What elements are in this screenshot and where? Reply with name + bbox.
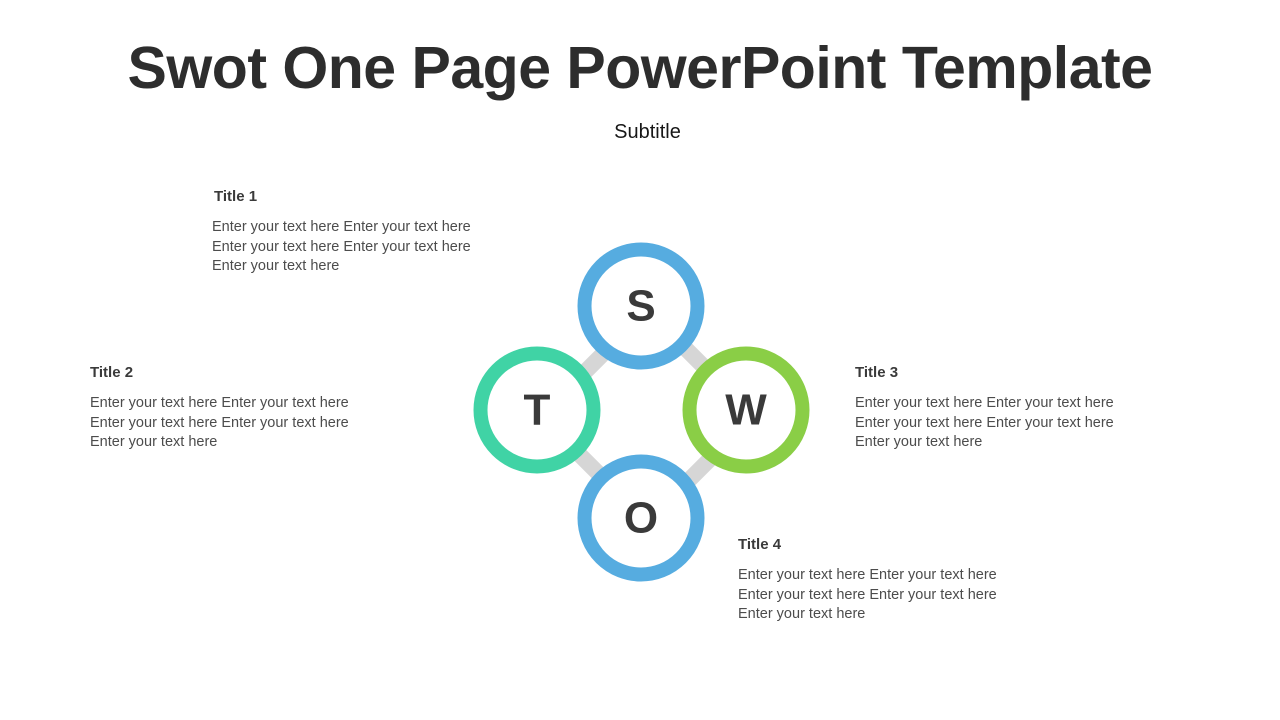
page-subtitle: Subtitle	[0, 120, 1280, 144]
swot-diagram: S W O T	[453, 222, 829, 598]
text-block-heading: Title 3	[855, 364, 1185, 382]
ring-letter-strengths: S	[626, 282, 655, 331]
text-block-body: Enter your text here Enter your text her…	[90, 394, 420, 453]
text-block-title-3: Title 3 Enter your text here Enter your …	[855, 364, 1185, 453]
text-block-title-2: Title 2 Enter your text here Enter your …	[90, 364, 420, 453]
text-block-body: Enter your text here Enter your text her…	[855, 394, 1185, 453]
ring-letter-threats: T	[524, 386, 551, 435]
page-title: Swot One Page PowerPoint Template	[0, 38, 1280, 100]
text-block-heading: Title 1	[214, 188, 542, 206]
slide-canvas: Swot One Page PowerPoint Template Subtit…	[0, 0, 1280, 720]
text-block-heading: Title 2	[90, 364, 420, 382]
ring-letter-weaknesses: W	[725, 386, 767, 435]
swot-node-weaknesses[interactable]: W	[690, 354, 803, 467]
ring-letter-opportunities: O	[624, 494, 658, 543]
swot-node-strengths[interactable]: S	[585, 250, 698, 363]
swot-node-threats[interactable]: T	[481, 354, 594, 467]
swot-node-opportunities[interactable]: O	[585, 462, 698, 575]
